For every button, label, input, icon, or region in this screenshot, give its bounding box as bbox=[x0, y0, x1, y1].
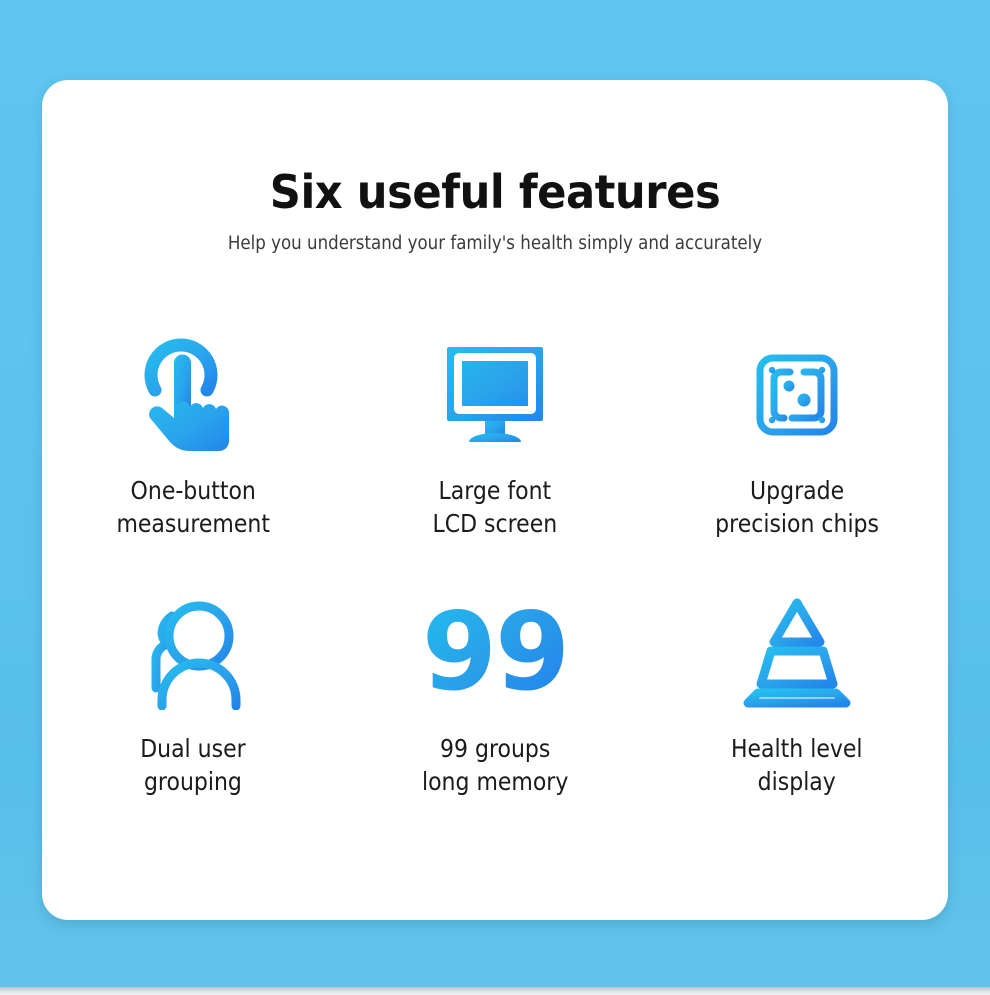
feature-label: One-button measurement bbox=[116, 474, 269, 540]
feature-label: Dual user grouping bbox=[140, 732, 245, 798]
feature-label: 99 groups long memory bbox=[422, 732, 568, 798]
feature-label: Upgrade precision chips bbox=[715, 474, 879, 540]
features-grid: One-button measurement bbox=[42, 330, 948, 818]
tap-hand-icon bbox=[139, 330, 247, 460]
bottom-edge-strip bbox=[0, 987, 990, 995]
numeral-99-text: 99 bbox=[422, 599, 568, 707]
feature-item-lcd-screen: Large font LCD screen bbox=[344, 330, 646, 560]
heading-block: Six useful features Help you understand … bbox=[42, 168, 948, 255]
numeral-99-icon: 99 bbox=[422, 588, 568, 718]
feature-item-99-groups: 99 99 groups long memory bbox=[344, 588, 646, 818]
cpu-chip-icon bbox=[738, 330, 856, 460]
feature-card: Six useful features Help you understand … bbox=[42, 80, 948, 920]
page-subtitle: Help you understand your family's health… bbox=[87, 233, 902, 255]
dual-user-icon bbox=[134, 588, 252, 718]
feature-item-health-level: Health level display bbox=[646, 588, 948, 818]
lcd-monitor-icon bbox=[439, 330, 551, 460]
feature-item-one-button-measurement: One-button measurement bbox=[42, 330, 344, 560]
feature-label: Large font LCD screen bbox=[433, 474, 558, 540]
page-title: Six useful features bbox=[69, 168, 921, 217]
promo-page: Six useful features Help you understand … bbox=[0, 0, 990, 995]
feature-label: Health level display bbox=[731, 732, 863, 798]
feature-item-precision-chips: Upgrade precision chips bbox=[646, 330, 948, 560]
pyramid-levels-icon bbox=[736, 588, 858, 718]
feature-item-dual-user: Dual user grouping bbox=[42, 588, 344, 818]
